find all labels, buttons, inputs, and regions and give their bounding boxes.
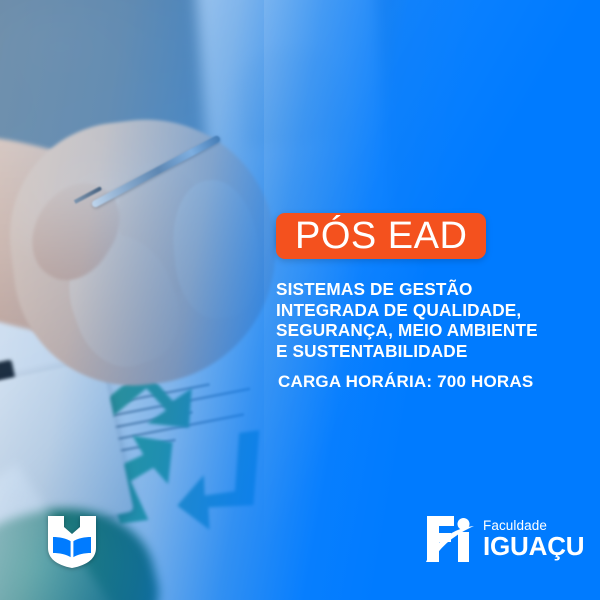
poster-content: PÓS EAD SISTEMAS DE GESTÃO INTEGRADA DE … <box>0 0 600 600</box>
course-title: SISTEMAS DE GESTÃO INTEGRADA DE QUALIDAD… <box>276 279 576 361</box>
course-title-line-2: INTEGRADA DE QUALIDADE, <box>276 300 576 321</box>
institution-logo: Faculdade IGUAÇU <box>424 508 576 570</box>
logo-wordmark: Faculdade IGUAÇU <box>483 519 584 560</box>
logo-name: IGUAÇU <box>483 533 584 559</box>
course-title-line-1: SISTEMAS DE GESTÃO <box>276 279 576 300</box>
fi-monogram-icon <box>424 512 476 566</box>
poster: PÓS EAD SISTEMAS DE GESTÃO INTEGRADA DE … <box>0 0 600 600</box>
open-book-emblem-icon <box>44 512 100 570</box>
course-type-badge: PÓS EAD <box>276 213 486 259</box>
course-title-line-4: E SUSTENTABILIDADE <box>276 341 576 362</box>
course-workload: CARGA HORÁRIA: 700 HORAS <box>278 372 533 392</box>
logo-kicker: Faculdade <box>483 519 584 533</box>
course-title-line-3: SEGURANÇA, MEIO AMBIENTE <box>276 320 576 341</box>
course-type-label: PÓS EAD <box>295 217 467 255</box>
